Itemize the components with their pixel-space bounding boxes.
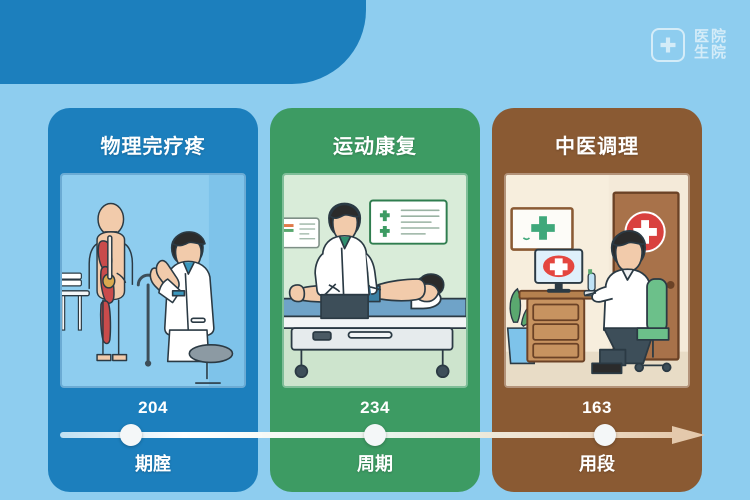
tcm-consultation-illustration: [504, 173, 690, 388]
medical-cross-icon: [651, 28, 685, 62]
card-step-label: 用段: [492, 450, 702, 476]
brand-logo: 医院 生院: [651, 28, 728, 62]
exercise-rehab-illustration: [282, 173, 468, 388]
physiotherapy-illustration: [60, 173, 246, 388]
card-title: 物理完疗疼: [101, 130, 206, 159]
card-metric: 163: [582, 398, 612, 418]
card-title: 运动康复: [333, 130, 417, 159]
brand-line-1: 医院: [694, 29, 728, 45]
card-step-label: 周期: [270, 450, 480, 476]
header-banner: [0, 0, 366, 84]
card-metric: 234: [360, 398, 390, 418]
card-step-label: 期腟: [48, 450, 258, 476]
card-title: 中医调理: [555, 130, 639, 159]
timeline-dot-3[interactable]: [594, 424, 616, 446]
timeline-dot-1[interactable]: [120, 424, 142, 446]
card-metric: 204: [138, 398, 168, 418]
brand-line-2: 生院: [694, 45, 728, 61]
treatment-card-physiotherapy[interactable]: 物理完疗疼: [48, 108, 258, 492]
brand-name: 医院 生院: [694, 29, 728, 61]
timeline-dot-2[interactable]: [364, 424, 386, 446]
